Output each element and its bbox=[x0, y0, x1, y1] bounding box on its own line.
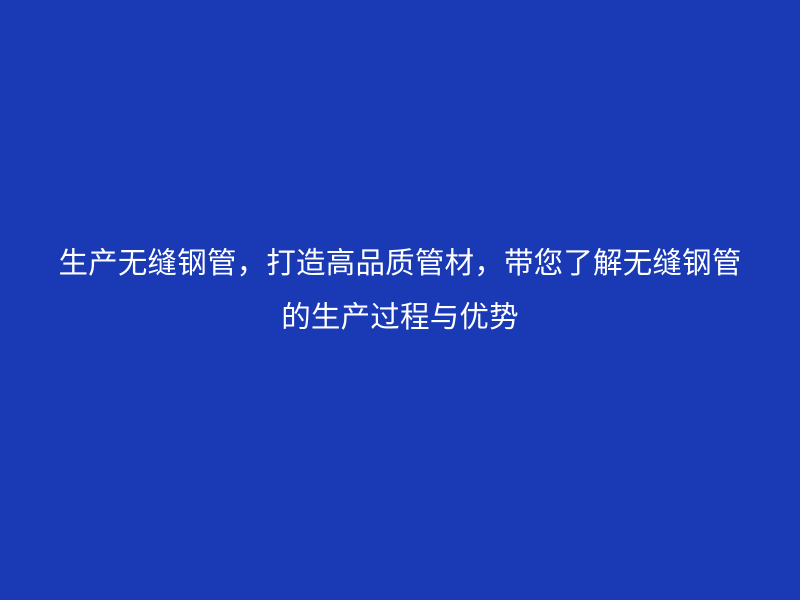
banner-headline: 生产无缝钢管，打造高品质管材，带您了解无缝钢管的生产过程与优势 bbox=[52, 237, 748, 345]
banner-container: 生产无缝钢管，打造高品质管材，带您了解无缝钢管的生产过程与优势 bbox=[0, 0, 800, 600]
headline-block: 生产无缝钢管，打造高品质管材，带您了解无缝钢管的生产过程与优势 bbox=[0, 237, 800, 345]
